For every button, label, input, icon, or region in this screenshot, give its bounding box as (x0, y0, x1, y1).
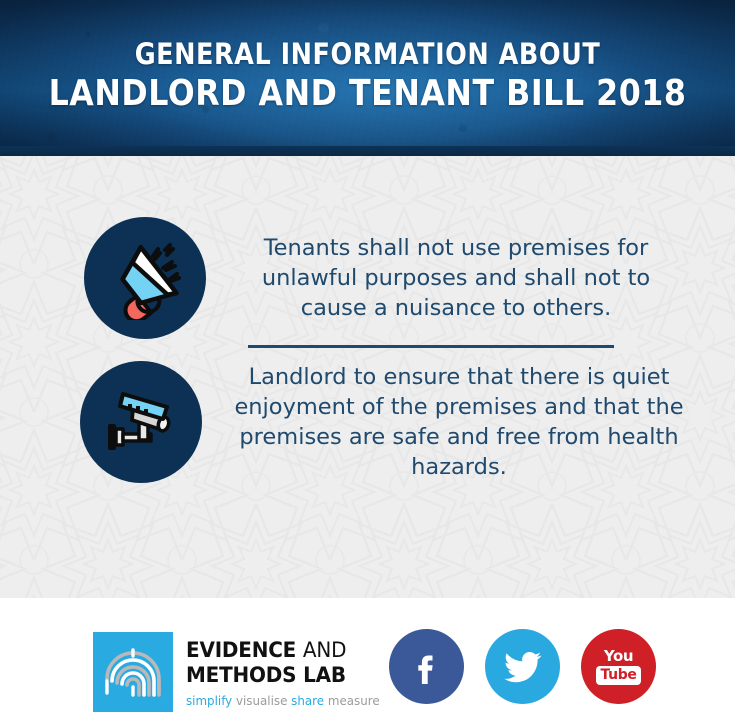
tagline-word-simplify: simplify (186, 693, 232, 708)
brand-wordmark: EVIDENCE AND METHODS LAB simplify visual… (186, 636, 390, 708)
statement-text: Landlord to ensure that there is quiet e… (202, 362, 700, 482)
infographic-root: GENERAL INFORMATION ABOUT LANDLORD AND T… (0, 0, 735, 726)
twitter-button[interactable] (485, 629, 560, 704)
main-content-area: Tenants shall not use premises for unlaw… (0, 156, 735, 598)
youtube-button[interactable]: You Tube (581, 629, 656, 704)
brand-name-line-2: METHODS LAB (186, 663, 380, 688)
header-banner: GENERAL INFORMATION ABOUT LANDLORD AND T… (0, 0, 735, 156)
fingerprint-logo-mark (93, 632, 173, 712)
tagline-word-share: share (291, 693, 324, 708)
brand-tagline: simplify visualise share measure (186, 693, 380, 708)
twitter-icon (502, 646, 544, 688)
footer-bar: EVIDENCE AND METHODS LAB simplify visual… (0, 598, 735, 726)
megaphone-icon (103, 236, 187, 320)
header-title-group: GENERAL INFORMATION ABOUT LANDLORD AND T… (0, 36, 735, 116)
facebook-icon (408, 648, 446, 686)
youtube-label-bottom: Tube (596, 666, 642, 685)
tagline-word-measure: measure (328, 693, 380, 708)
security-camera-icon-circle (80, 361, 202, 483)
header-bottom-strip (0, 146, 735, 156)
brand-logo[interactable]: EVIDENCE AND METHODS LAB simplify visual… (93, 632, 390, 712)
social-links: You Tube (389, 629, 656, 704)
megaphone-icon-circle (84, 217, 206, 339)
brand-name-line-1: EVIDENCE AND (186, 638, 380, 663)
youtube-icon: You Tube (596, 646, 642, 688)
security-camera-icon (99, 380, 183, 464)
brand-name-bold: EVIDENCE (186, 638, 296, 662)
statement-row: Landlord to ensure that there is quiet e… (0, 361, 700, 483)
facebook-button[interactable] (389, 629, 464, 704)
page-title-line-1: GENERAL INFORMATION ABOUT (44, 36, 691, 72)
brand-name-light: AND (303, 638, 346, 662)
page-title-line-2: LANDLORD AND TENANT BILL 2018 (44, 72, 691, 116)
statement-text: Tenants shall not use premises for unlaw… (206, 233, 690, 323)
youtube-label-top: You (604, 649, 633, 664)
statement-row: Tenants shall not use premises for unlaw… (0, 217, 690, 339)
fingerprint-icon (102, 641, 164, 703)
tagline-word-visualise: visualise (236, 693, 287, 708)
section-divider (248, 345, 614, 348)
